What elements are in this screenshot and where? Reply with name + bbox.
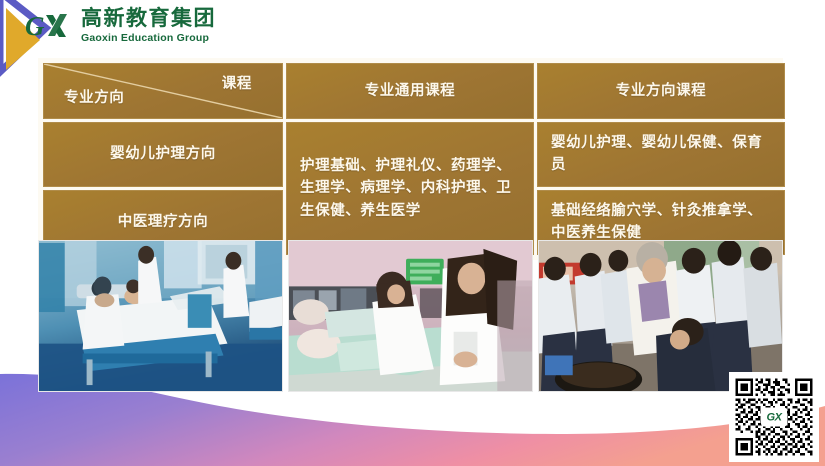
brand-name-cn: 高新教育集团 bbox=[81, 8, 216, 31]
header-common-courses: 专业通用课程 bbox=[286, 63, 534, 119]
table-header-row: 专业方向 课程 专业通用课程 专业方向课程 bbox=[43, 63, 785, 119]
qr-code[interactable]: GX bbox=[729, 372, 819, 462]
cell-specialized-1: 婴幼儿护理、婴幼儿保健、保育员 bbox=[537, 122, 785, 187]
brand-logo: G 高新教育集团 Gaoxin Education Group bbox=[26, 8, 216, 45]
page-header: G 高新教育集团 Gaoxin Education Group bbox=[0, 0, 825, 56]
student-demonstration-photo bbox=[538, 240, 783, 392]
header-direction-courses: 专业方向课程 bbox=[537, 63, 785, 119]
svg-text:G: G bbox=[26, 11, 45, 41]
table-corner-header: 专业方向 课程 bbox=[43, 63, 283, 119]
course-table: 专业方向 课程 专业通用课程 专业方向课程 婴幼儿护理方向 护理基础、护理礼仪、… bbox=[40, 60, 788, 258]
header-col-label: 课程 bbox=[222, 73, 252, 95]
photo-gallery bbox=[38, 240, 783, 392]
qr-center-logo-icon: GX bbox=[761, 408, 787, 427]
brand-name-en: Gaoxin Education Group bbox=[81, 32, 216, 45]
cell-common-courses: 护理基础、护理礼仪、药理学、生理学、病理学、内科护理、卫生保健、养生医学 bbox=[286, 122, 534, 255]
hospital-ward-photo bbox=[38, 240, 283, 392]
slide-page: G 高新教育集团 Gaoxin Education Group bbox=[0, 0, 825, 466]
gx-logo-icon: G bbox=[26, 9, 72, 43]
course-table-container: 专业方向 课程 专业通用课程 专业方向课程 婴幼儿护理方向 护理基础、护理礼仪、… bbox=[38, 58, 783, 260]
cell-direction-1: 婴幼儿护理方向 bbox=[43, 122, 283, 187]
nursing-practice-photo bbox=[288, 240, 533, 392]
header-row-label: 专业方向 bbox=[64, 87, 124, 109]
table-row: 婴幼儿护理方向 护理基础、护理礼仪、药理学、生理学、病理学、内科护理、卫生保健、… bbox=[43, 122, 785, 187]
qr-center-label: GX bbox=[767, 411, 782, 423]
